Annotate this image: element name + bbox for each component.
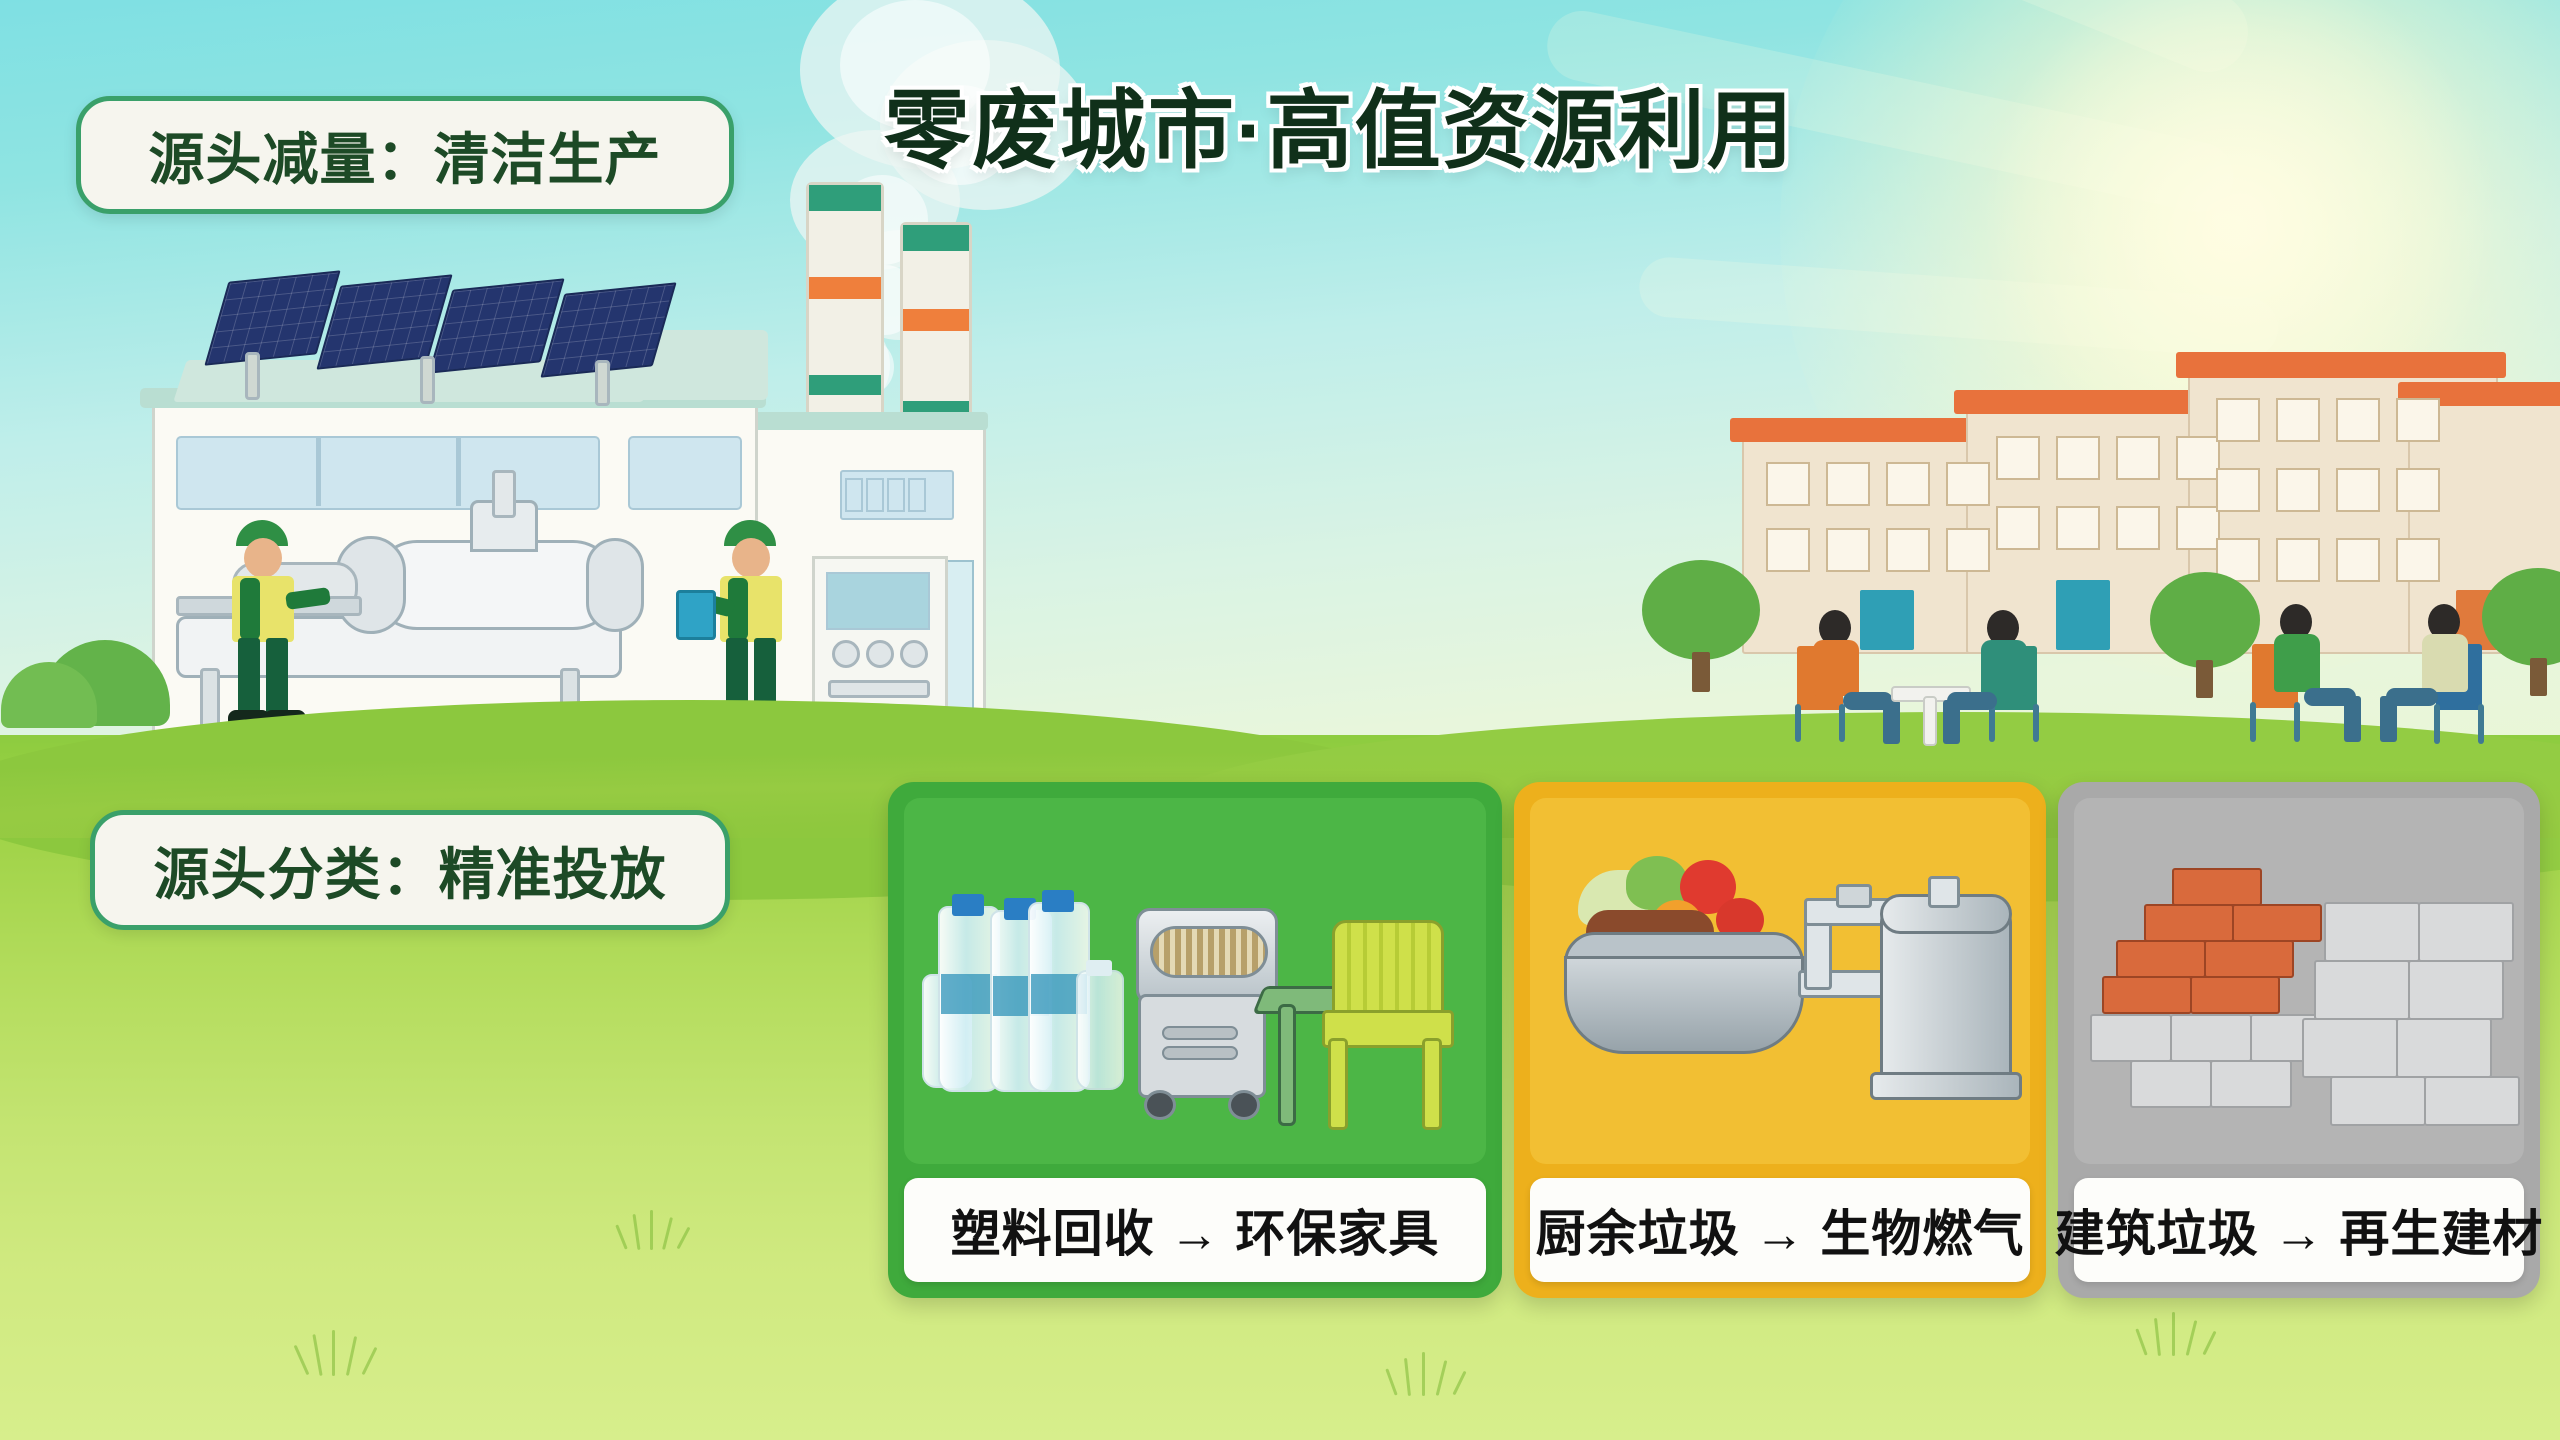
- concrete-block-icon: [2424, 1076, 2520, 1126]
- badge-label: 源头分类：精准投放: [154, 830, 667, 911]
- card-artwork: [904, 798, 1486, 1164]
- tree-trunk: [2530, 658, 2547, 696]
- worker-leg: [266, 638, 288, 716]
- page-title: 零废城市·高值资源利用: [884, 60, 1795, 185]
- badge-source-reduction[interactable]: 源头减量：清洁生产: [76, 96, 734, 214]
- worker-leg: [238, 638, 260, 716]
- grass-tuft: [2140, 1312, 2226, 1356]
- shredder-wheel: [1228, 1090, 1260, 1120]
- control-knob: [900, 640, 928, 668]
- chair: [1795, 704, 1801, 742]
- card-artwork: [1530, 798, 2030, 1164]
- card-label-bar: 塑料回收 → 环保家具: [904, 1178, 1486, 1282]
- person-leg: [1883, 700, 1900, 744]
- card-label-text: 建筑垃圾 → 再生建材: [2055, 1194, 2544, 1266]
- bottle-cap: [1042, 890, 1074, 912]
- chair: [2434, 704, 2440, 744]
- brick-pile-icon: [2172, 868, 2262, 906]
- building-door: [2056, 580, 2110, 650]
- building-window: [2336, 538, 2380, 582]
- shredder-wheel: [1144, 1090, 1176, 1120]
- process-drum-end: [586, 538, 644, 632]
- factory-window: [866, 478, 884, 512]
- building-window: [2276, 398, 2320, 442]
- pipe-valve-icon: [1836, 884, 1872, 908]
- building-window: [1946, 462, 1990, 506]
- grass-tuft: [300, 1330, 390, 1376]
- bottle-label: [941, 974, 997, 1014]
- control-screen: [826, 572, 930, 630]
- chair: [2033, 704, 2039, 742]
- building-window: [2216, 398, 2260, 442]
- building-window: [2276, 538, 2320, 582]
- tree-canopy: [2150, 572, 2260, 668]
- concrete-block-icon: [2330, 1076, 2426, 1126]
- chair-leg: [1328, 1038, 1348, 1130]
- worker-torso: [240, 578, 260, 640]
- concrete-block-icon: [2396, 1018, 2492, 1078]
- bottle-cap: [1086, 960, 1112, 976]
- building-window: [2396, 538, 2440, 582]
- card-plastic-recycling[interactable]: 塑料回收 → 环保家具: [888, 782, 1502, 1298]
- solar-mount: [245, 352, 260, 400]
- patio-table-leg: [1923, 696, 1937, 746]
- person-leg: [2344, 696, 2361, 742]
- shredder-roller: [1150, 926, 1268, 978]
- concrete-block-icon: [2418, 902, 2514, 962]
- concrete-block-icon: [2324, 902, 2420, 962]
- building-window: [1996, 506, 2040, 550]
- clipboard-icon: [676, 590, 716, 640]
- brick-pile-icon: [2116, 940, 2206, 978]
- table-leg: [1278, 1004, 1296, 1126]
- shredder-drawer: [1162, 1046, 1238, 1060]
- building-window: [2056, 436, 2100, 480]
- concrete-block-icon: [2170, 1014, 2252, 1062]
- building-window: [2056, 506, 2100, 550]
- person-body: [1981, 640, 2027, 696]
- crushed-bottle-icon: [1076, 970, 1124, 1090]
- person-body: [2422, 634, 2468, 692]
- solar-mount: [595, 360, 610, 406]
- process-drum: [372, 540, 618, 630]
- factory-window: [908, 478, 926, 512]
- tree-trunk: [2196, 660, 2213, 698]
- control-knob: [866, 640, 894, 668]
- building-window: [2176, 436, 2220, 480]
- solar-mount: [420, 356, 435, 404]
- brick-pile-icon: [2102, 976, 2192, 1014]
- building-window: [1886, 462, 1930, 506]
- process-pipe: [492, 470, 516, 518]
- card-artwork: [2074, 798, 2524, 1164]
- card-label-bar: 建筑垃圾 → 再生建材: [2074, 1178, 2524, 1282]
- building-window: [1766, 462, 1810, 506]
- biogas-tank-icon: [1880, 906, 2012, 1094]
- brick-pile-icon: [2144, 904, 2234, 942]
- concrete-block-icon: [2210, 1060, 2292, 1108]
- badge-source-sorting[interactable]: 源头分类：精准投放: [90, 810, 730, 930]
- factory-worker-left: [210, 520, 320, 730]
- tree: [2146, 572, 2264, 694]
- concrete-block-icon: [2302, 1018, 2398, 1078]
- workshop-window-band: [176, 436, 600, 510]
- poster-canvas: 零废城市·高值资源利用 源头减量：清洁生产 源头分类：精准投放: [0, 0, 2560, 1440]
- chair: [2294, 702, 2300, 742]
- workshop-window-mullion: [456, 436, 461, 506]
- brick-pile-icon: [2232, 904, 2322, 942]
- building-window: [2176, 506, 2220, 550]
- factory-window: [845, 478, 863, 512]
- building-window: [1826, 462, 1870, 506]
- shredder-drawer: [1162, 1026, 1238, 1040]
- control-slot: [828, 680, 930, 698]
- chair: [2478, 704, 2484, 744]
- chair: [2250, 702, 2256, 742]
- workshop-window-mullion: [316, 436, 321, 506]
- building-window: [2396, 398, 2440, 442]
- control-knob: [832, 640, 860, 668]
- chair-leg: [1422, 1038, 1442, 1130]
- person-leg: [1943, 700, 1960, 744]
- building-roof: [2176, 352, 2506, 378]
- tree-canopy: [1642, 560, 1760, 660]
- building-window: [2396, 468, 2440, 512]
- building-window: [2276, 468, 2320, 512]
- tank-nozzle-icon: [1928, 876, 1960, 908]
- worker-head: [244, 538, 282, 578]
- building-window: [2336, 398, 2380, 442]
- building-window: [1996, 436, 2040, 480]
- concrete-block-icon: [2130, 1060, 2212, 1108]
- building-window: [1826, 528, 1870, 572]
- resident-group-left: [1795, 608, 2045, 748]
- tree-trunk: [1692, 652, 1710, 692]
- grass-tuft: [620, 1210, 700, 1250]
- bottle-cap: [952, 894, 984, 916]
- card-label-text: 塑料回收 → 环保家具: [951, 1194, 1440, 1266]
- tree: [1636, 560, 1766, 690]
- workshop-window-right: [628, 436, 742, 510]
- factory-window: [887, 478, 905, 512]
- building-window: [1766, 528, 1810, 572]
- tank-base: [1870, 1072, 2022, 1100]
- building-window: [2116, 506, 2160, 550]
- resident-group-right: [2250, 602, 2500, 748]
- concrete-block-icon: [2314, 960, 2410, 1020]
- person-body: [2274, 634, 2320, 692]
- person-body: [1813, 640, 1859, 696]
- card-label-text: 厨余垃圾 → 生物燃气: [1536, 1194, 2025, 1266]
- building-window: [2116, 436, 2160, 480]
- person-leg: [2380, 696, 2397, 742]
- pan-body: [1564, 956, 1804, 1054]
- brick-pile-icon: [2190, 976, 2280, 1014]
- building-window: [1946, 528, 1990, 572]
- grass-tuft: [1390, 1352, 1476, 1396]
- building-window: [2216, 468, 2260, 512]
- building-window: [2336, 468, 2380, 512]
- factory-roof: [722, 412, 988, 430]
- chair: [1839, 704, 1845, 742]
- card-food-waste[interactable]: 厨余垃圾 → 生物燃气: [1514, 782, 2046, 1298]
- concrete-block-icon: [2090, 1014, 2172, 1062]
- badge-label: 源头减量：清洁生产: [149, 115, 662, 196]
- building-window: [1886, 528, 1930, 572]
- brick-pile-icon: [2204, 940, 2294, 978]
- card-construction-waste[interactable]: 建筑垃圾 → 再生建材: [2058, 782, 2540, 1298]
- card-label-bar: 厨余垃圾 → 生物燃气: [1530, 1178, 2030, 1282]
- worker-head: [732, 538, 770, 578]
- concrete-block-icon: [2408, 960, 2504, 1020]
